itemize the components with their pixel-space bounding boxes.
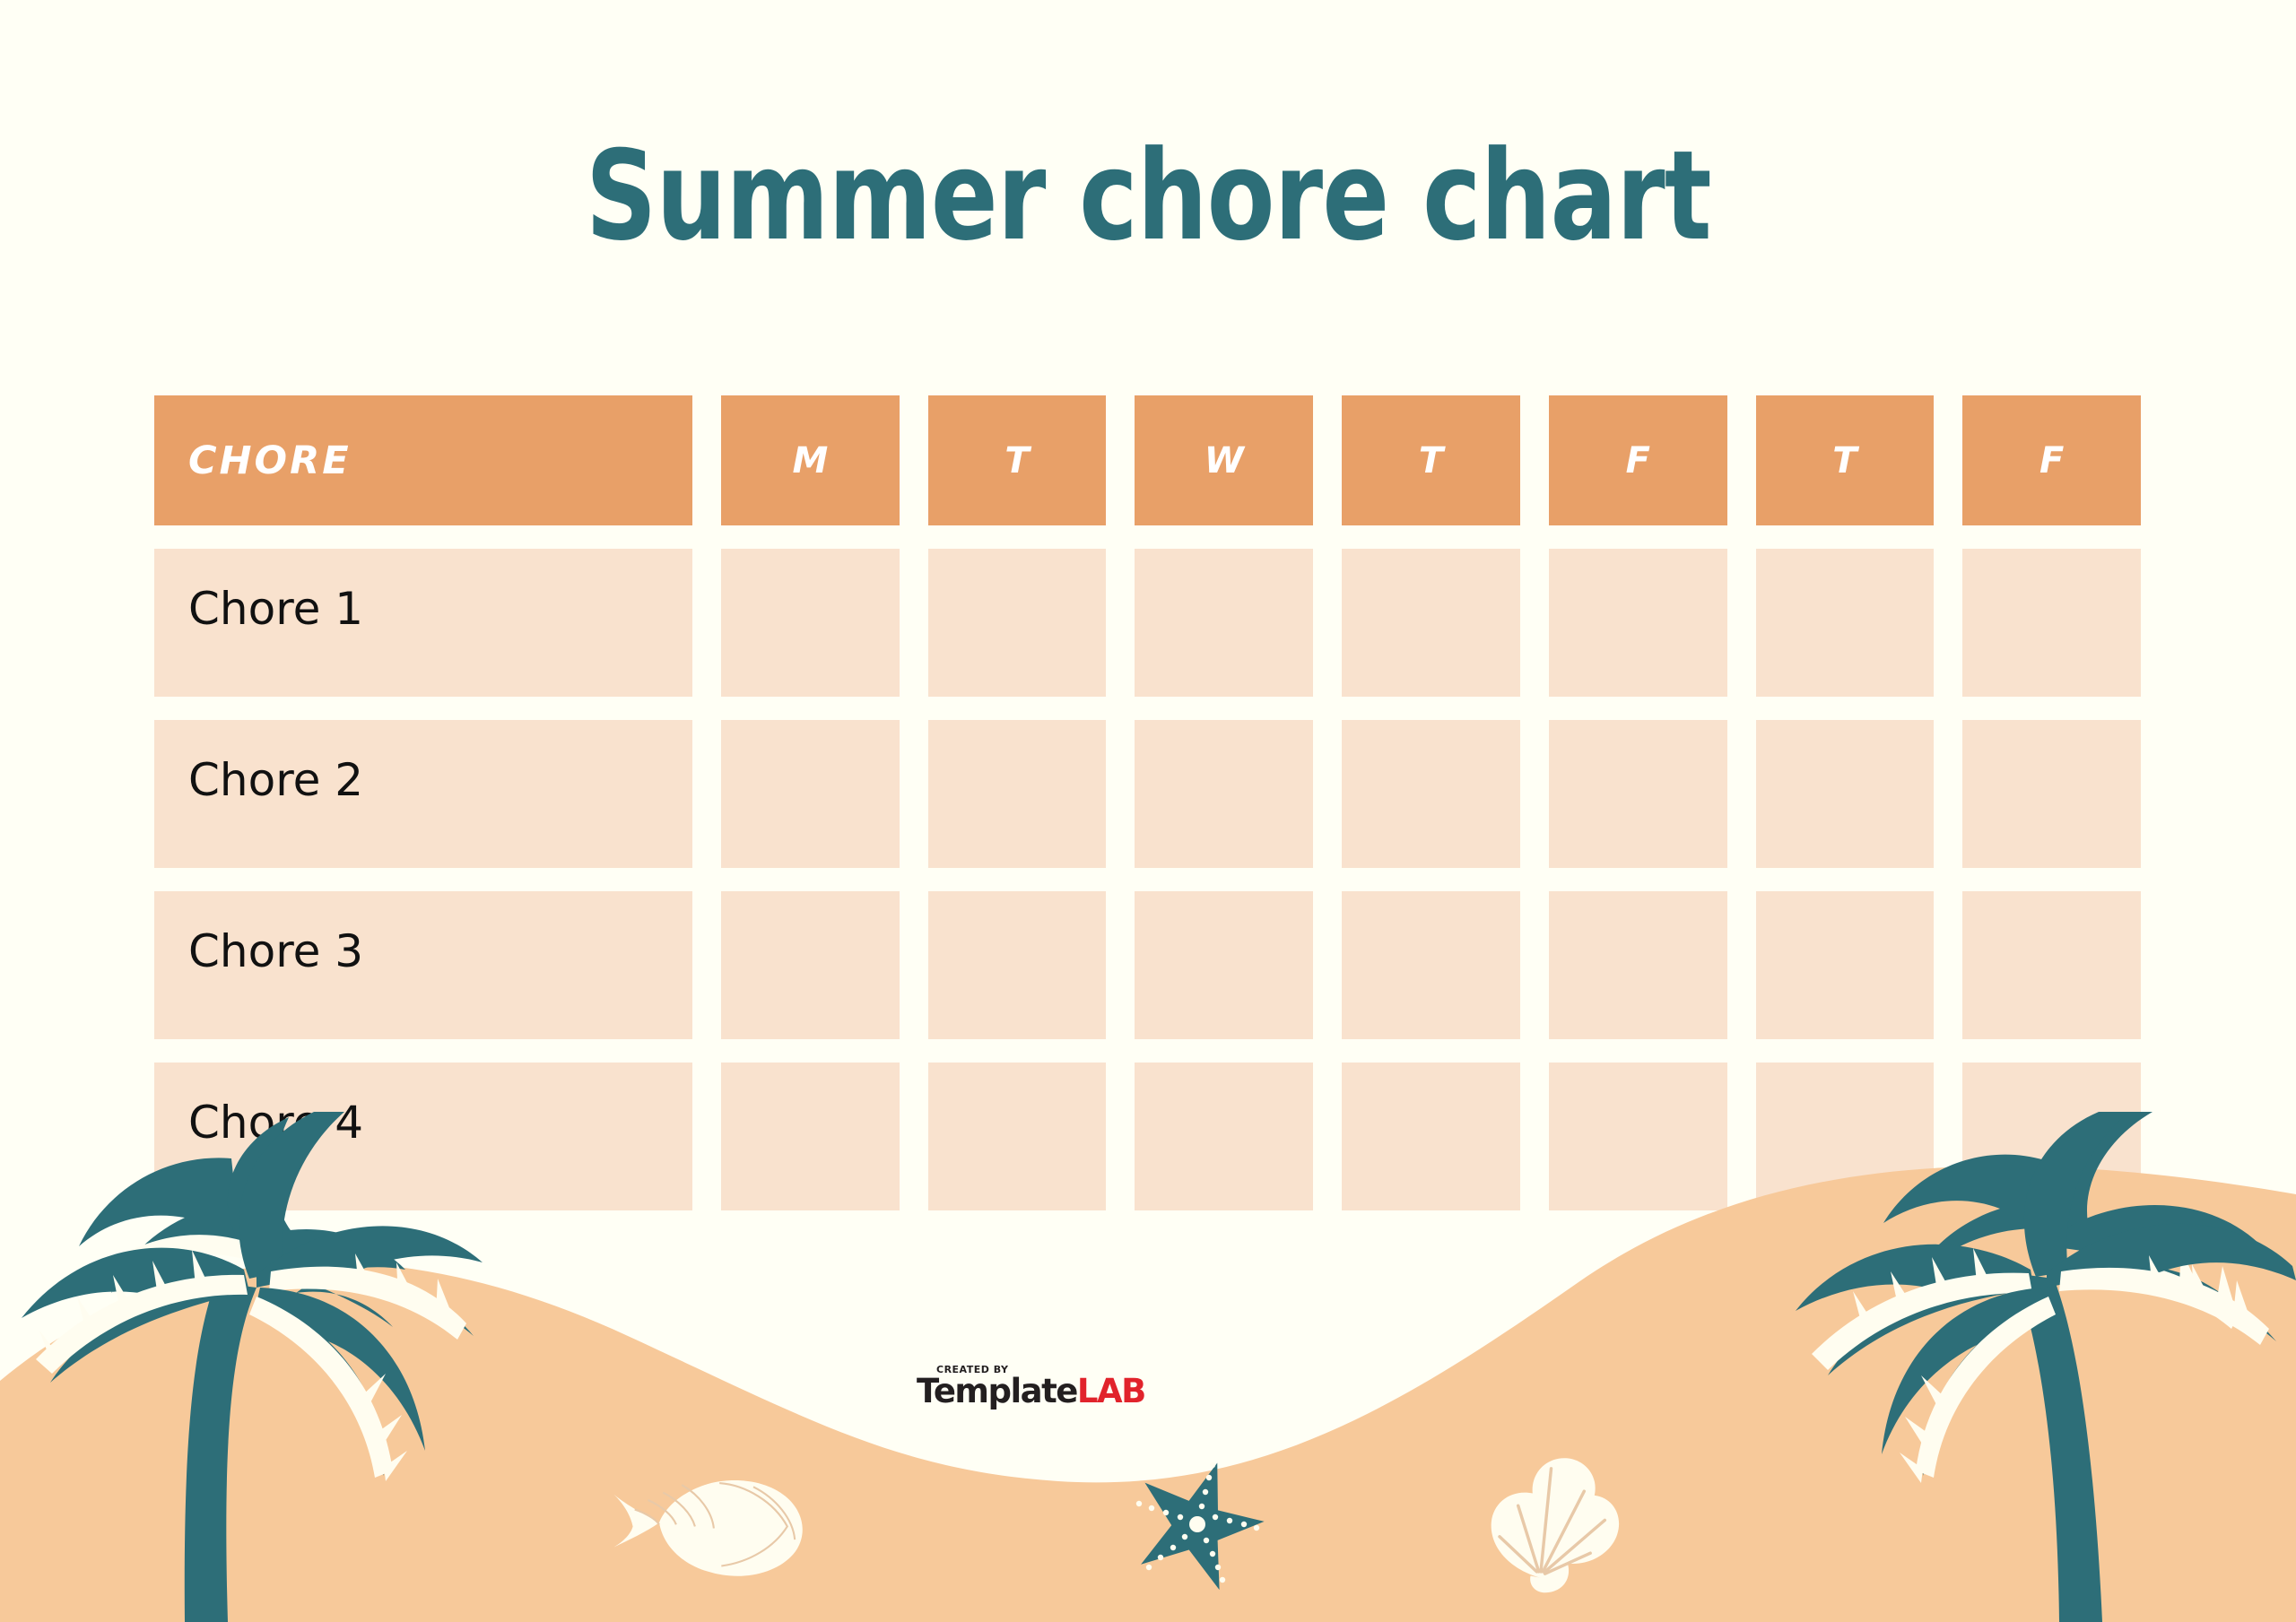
table-row: Chore 1 (154, 549, 2141, 697)
chore-checkbox-cell[interactable] (1756, 891, 1935, 1039)
chore-label-cell[interactable]: Chore 4 (154, 1063, 692, 1210)
chore-label: Chore 2 (188, 754, 363, 806)
chore-checkbox-cell[interactable] (1135, 891, 1313, 1039)
chore-label: Chore 4 (188, 1097, 363, 1149)
header-cell-day-sunday: F (1962, 395, 2141, 525)
logo-brand: TemplateLAB (917, 1375, 1114, 1408)
table-row: Chore 2 (154, 720, 2141, 868)
header-label-chore: CHORE (188, 438, 352, 483)
table-header-row: CHORE M T W T F T F (154, 395, 2141, 525)
chore-checkbox-cell[interactable] (928, 1063, 1107, 1210)
templatelab-logo: CREATED BY TemplateLAB (917, 1365, 1114, 1408)
conch-shell-icon (614, 1480, 803, 1576)
chore-checkbox-cell[interactable] (1549, 891, 1727, 1039)
header-cell-day-saturday: T (1756, 395, 1935, 525)
chore-checkbox-cell[interactable] (721, 549, 900, 697)
header-label-day: T (1419, 440, 1443, 481)
palm-frond (2047, 1224, 2296, 1341)
header-cell-chore: CHORE (154, 395, 692, 525)
chore-checkbox-cell[interactable] (1342, 1063, 1520, 1210)
chore-label: Chore 1 (188, 583, 363, 635)
chore-checkbox-cell[interactable] (1342, 720, 1520, 868)
chore-checkbox-cell[interactable] (1756, 720, 1935, 868)
chore-checkbox-cell[interactable] (1962, 549, 2141, 697)
chore-checkbox-cell[interactable] (1135, 549, 1313, 697)
chore-checkbox-cell[interactable] (721, 1063, 900, 1210)
palm-frond (22, 1248, 249, 1383)
page-title-container: Summer chore chart (0, 134, 2296, 258)
header-label-day: T (1832, 440, 1857, 481)
chore-checkbox-cell[interactable] (1756, 549, 1935, 697)
chore-checkbox-cell[interactable] (1756, 1063, 1935, 1210)
palm-frond (1796, 1245, 2034, 1375)
chore-checkbox-cell[interactable] (928, 720, 1107, 868)
palm-trunk-left (185, 1282, 257, 1622)
palm-trunk-right (2014, 1273, 2102, 1622)
palm-frond (1882, 1288, 2047, 1476)
logo-brand-lab: LAB (1077, 1372, 1145, 1410)
page-title: Summer chore chart (586, 134, 1711, 258)
header-label-day: M (792, 440, 828, 481)
header-cell-day-friday: F (1549, 395, 1727, 525)
table-row: Chore 3 (154, 891, 2141, 1039)
palm-frond (257, 1288, 425, 1476)
header-label-day: W (1205, 440, 1244, 481)
header-cell-day-wednesday: W (1135, 395, 1313, 525)
logo-brand-template: Template (917, 1372, 1077, 1410)
chore-checkbox-cell[interactable] (1135, 720, 1313, 868)
chore-checkbox-cell[interactable] (1549, 720, 1727, 868)
chore-checkbox-cell[interactable] (1549, 1063, 1727, 1210)
chore-label-cell[interactable]: Chore 1 (154, 549, 692, 697)
header-cell-day-thursday: T (1342, 395, 1520, 525)
chore-checkbox-cell[interactable] (928, 891, 1107, 1039)
chore-checkbox-cell[interactable] (1962, 720, 2141, 868)
starfish-icon (1120, 1444, 1277, 1597)
chore-checkbox-cell[interactable] (1342, 549, 1520, 697)
chore-chart-table: CHORE M T W T F T F Chore 1 (154, 395, 2141, 1210)
chore-checkbox-cell[interactable] (1962, 891, 2141, 1039)
header-cell-day-tuesday: T (928, 395, 1107, 525)
chore-checkbox-cell[interactable] (1342, 891, 1520, 1039)
table-row: Chore 4 (154, 1063, 2141, 1210)
chore-checkbox-cell[interactable] (1549, 549, 1727, 697)
scallop-shell-icon (1492, 1458, 1619, 1592)
chore-label-cell[interactable]: Chore 2 (154, 720, 692, 868)
chore-label-cell[interactable]: Chore 3 (154, 891, 692, 1039)
chore-checkbox-cell[interactable] (1135, 1063, 1313, 1210)
chore-checkbox-cell[interactable] (928, 549, 1107, 697)
header-label-day: F (1626, 440, 1650, 481)
header-label-day: T (1004, 440, 1029, 481)
sand-dune-shape (0, 1167, 2296, 1622)
chore-label: Chore 3 (188, 925, 363, 977)
chore-checkbox-cell[interactable] (1962, 1063, 2141, 1210)
palm-frond (257, 1226, 483, 1336)
chore-checkbox-cell[interactable] (721, 720, 900, 868)
header-cell-day-monday: M (721, 395, 900, 525)
header-label-day: F (2039, 440, 2064, 481)
chore-checkbox-cell[interactable] (721, 891, 900, 1039)
